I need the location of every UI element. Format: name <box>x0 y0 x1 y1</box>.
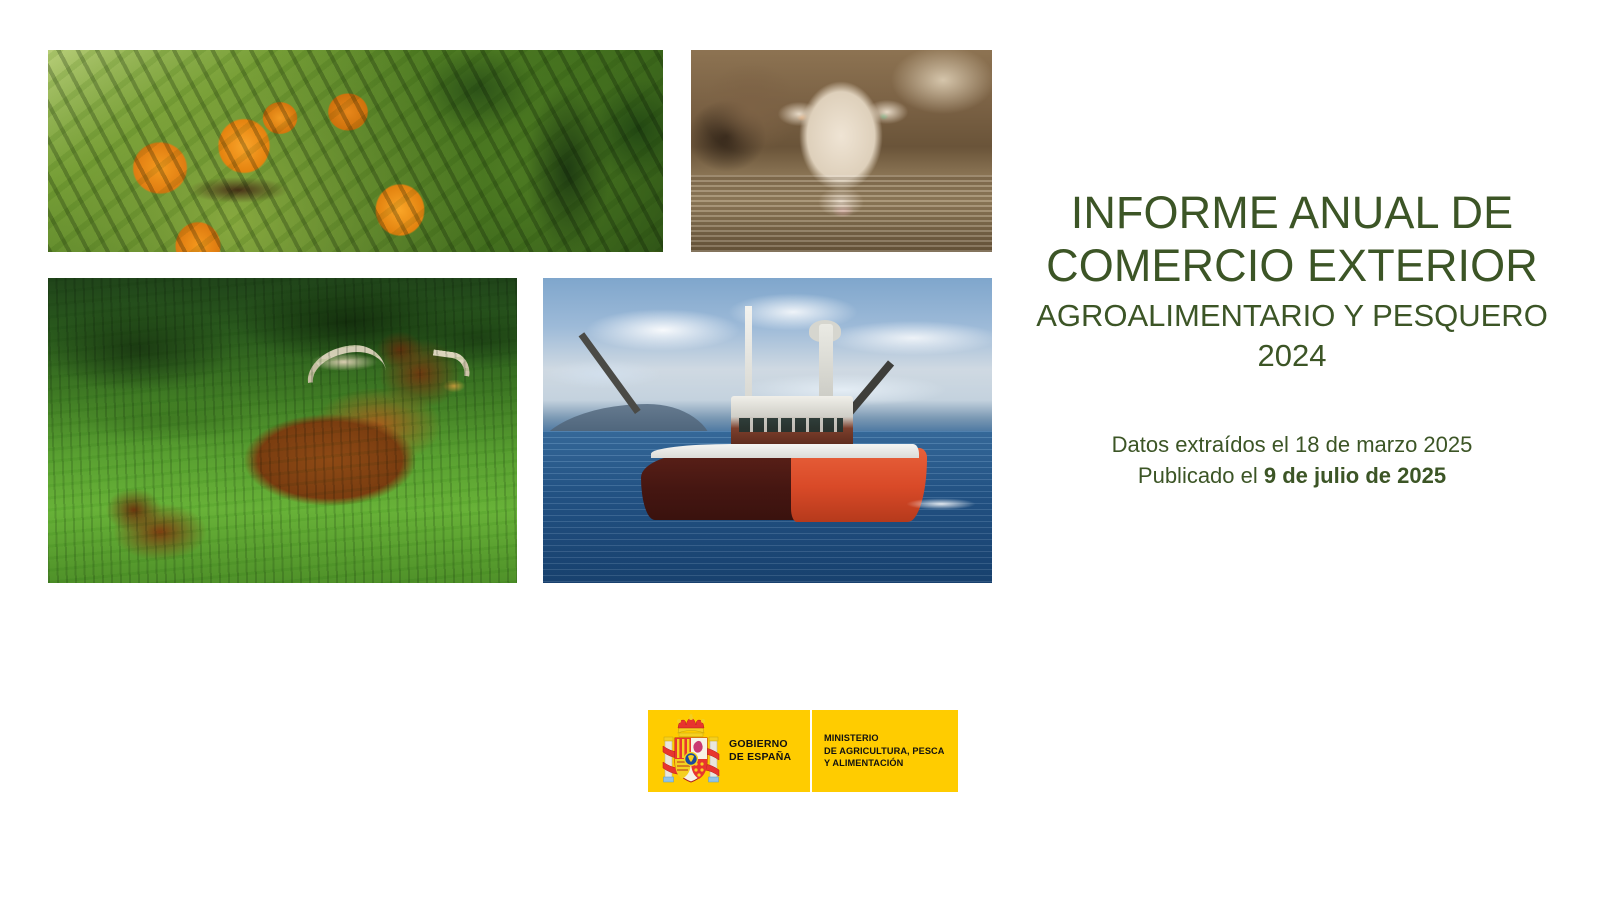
title-line-1: INFORME ANUAL DE <box>1071 187 1514 238</box>
wheelhouse-windows-shape <box>739 418 843 432</box>
gobierno-de-espana-text: GOBIERNO DE ESPAÑA <box>729 738 791 764</box>
cover-slide: INFORME ANUAL DE COMERCIO EXTERIOR AGROA… <box>0 0 1600 900</box>
gobierno-de-espana-block: GOBIERNO DE ESPAÑA <box>648 710 810 792</box>
ministerio-text: MINISTERIO DE AGRICULTURA, PESCA Y ALIME… <box>824 732 945 770</box>
cow-horn-secondary-shape <box>431 349 473 376</box>
publication-date-line: Publicado el 9 de julio de 2025 <box>1012 460 1572 491</box>
ministerio-line-2: DE AGRICULTURA, PESCA <box>824 745 945 758</box>
government-logo: GOBIERNO DE ESPAÑA MINISTERIO DE AGRICUL… <box>648 710 958 792</box>
data-extraction-date: Datos extraídos el 18 de marzo 2025 <box>1012 429 1572 460</box>
title-line-2: COMERCIO EXTERIOR <box>1046 240 1538 291</box>
date-block: Datos extraídos el 18 de marzo 2025 Publ… <box>1012 429 1572 491</box>
hull-white-band-shape <box>651 444 919 458</box>
coat-of-arms-of-spain-icon <box>662 714 720 788</box>
wake-foam-shape <box>893 496 989 512</box>
page-title: INFORME ANUAL DE COMERCIO EXTERIOR <box>1012 186 1572 292</box>
ministerio-block: MINISTERIO DE AGRICULTURA, PESCA Y ALIME… <box>812 710 958 792</box>
cow-and-calf-photo <box>48 278 517 583</box>
sheep-drinking-photo <box>691 50 992 252</box>
report-year: 2024 <box>1012 336 1572 376</box>
ministerio-line-1: MINISTERIO <box>824 732 945 745</box>
page-subtitle: AGROALIMENTARIO Y PESQUERO <box>1012 296 1572 336</box>
orange-tree-photo <box>48 50 663 252</box>
cover-text-column: INFORME ANUAL DE COMERCIO EXTERIOR AGROA… <box>1012 186 1572 491</box>
gobierno-line-1: GOBIERNO <box>729 738 791 751</box>
cow-horn-shape <box>304 342 386 383</box>
fishing-vessel-photo <box>543 278 992 583</box>
ministerio-line-3: Y ALIMENTACIÓN <box>824 757 945 770</box>
gobierno-line-2: DE ESPAÑA <box>729 751 791 764</box>
main-mast-shape <box>745 306 752 410</box>
published-date: 9 de julio de 2025 <box>1264 463 1446 488</box>
published-prefix: Publicado el <box>1138 463 1264 488</box>
